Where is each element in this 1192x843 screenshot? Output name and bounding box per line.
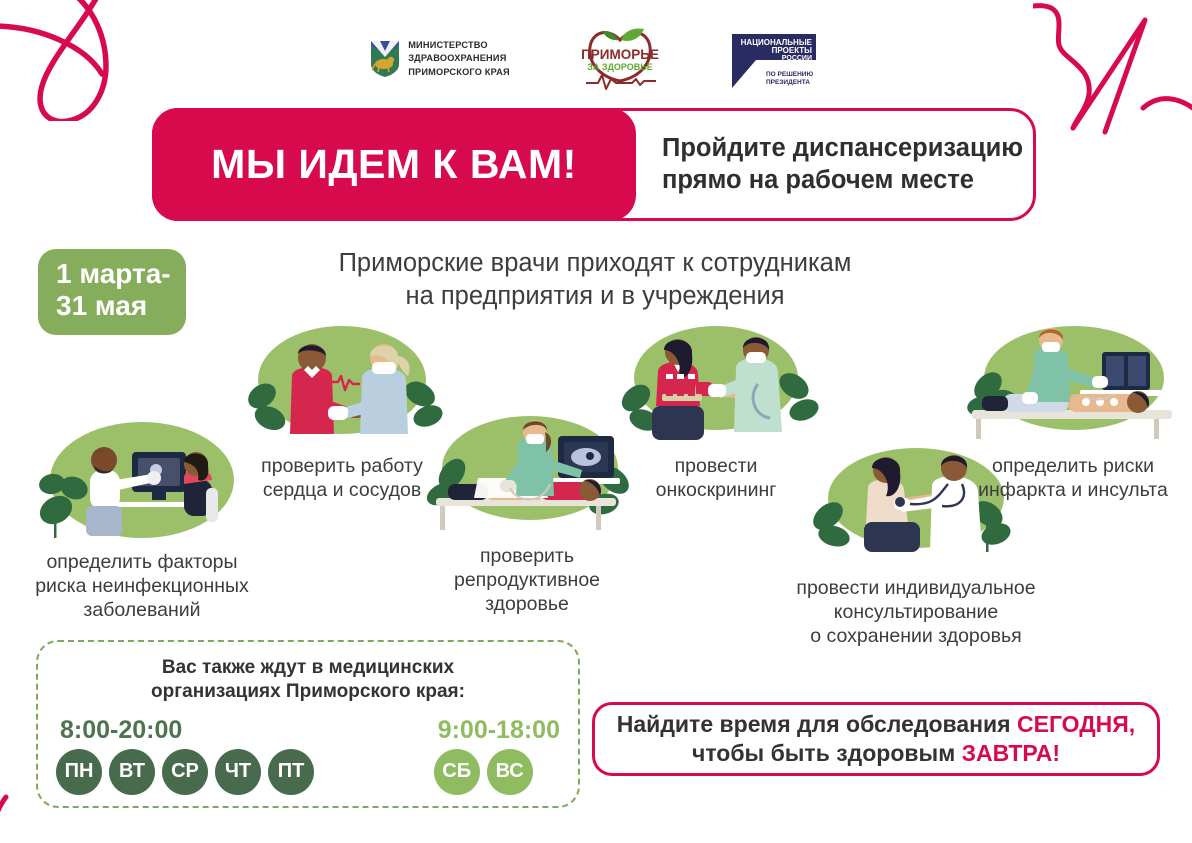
day-badge-mon: ПН [56, 749, 102, 795]
schedule-weekday-days: ПН ВТ СР ЧТ ПТ [56, 749, 314, 795]
schedule-weekend-hours: 9:00-18:00 [434, 716, 560, 745]
service-item-5: определить риски инфаркта и инсульта [958, 322, 1188, 503]
service-item-1: проверить работу сердца и сосудов [236, 322, 448, 503]
apple-heartbeat-logo-icon: ПРИМОРЬЕ ЗА ЗДОРОВЬЕ [572, 27, 668, 91]
date-badge: 1 марта- 31 мая [38, 249, 186, 335]
cta-text: Найдите время для обследования СЕГОДНЯ, … [617, 710, 1135, 768]
schedule-weekend-days: СБ ВС [434, 749, 560, 795]
logo-primorye: ПРИМОРЬЕ ЗА ЗДОРОВЬЕ [572, 27, 668, 91]
cta-box: Найдите время для обследования СЕГОДНЯ, … [592, 702, 1160, 776]
cta-highlight1: СЕГОДНЯ, [1017, 711, 1135, 737]
decorative-accent-bottom-left [0, 793, 28, 843]
cta-part2: чтобы быть здоровым [692, 740, 962, 766]
logo-np-line3: РОССИИ [782, 55, 812, 62]
day-badge-tue: ВТ [109, 749, 155, 795]
service-caption-2: проверить репродуктивное здоровье [418, 545, 636, 616]
logo-natsproekty: НАЦИОНАЛЬНЫЕ ПРОЕКТЫ РОССИИ ПО РЕШЕНИЮ П… [730, 26, 822, 92]
schedule-row: 8:00-20:00 ПН ВТ СР ЧТ ПТ 9:00-18:00 СБ … [56, 716, 560, 795]
service-caption-5: определить риски инфаркта и инсульта [958, 455, 1188, 503]
ecg-monitoring-icon [958, 322, 1188, 450]
page-subtitle: Приморские врачи приходят к сотрудникам … [230, 247, 960, 313]
hero-headline-block: МЫ ИДЕМ К ВАМ! [152, 108, 636, 221]
date-badge-text: 1 марта- 31 мая [56, 258, 172, 323]
schedule-box: Вас также ждут в медицинских организация… [36, 640, 580, 808]
logo-minzdrav: МИНИСТЕРСТВО ЗДРАВООХРАНЕНИЯ ПРИМОРСКОГО… [370, 39, 510, 78]
day-badge-sat: СБ [434, 749, 480, 795]
hero-headline: МЫ ИДЕМ К ВАМ! [211, 141, 577, 188]
logo-np-sub-line2: ПРЕЗИДЕНТА [766, 79, 810, 86]
day-badge-wed: СР [162, 749, 208, 795]
logo-np-line2: ПРОЕКТЫ [771, 46, 812, 55]
hero-subhead: Пройдите диспансеризацию прямо на рабоче… [662, 133, 1023, 196]
national-projects-logo-icon: НАЦИОНАЛЬНЫЕ ПРОЕКТЫ РОССИИ ПО РЕШЕНИЮ П… [730, 26, 822, 92]
service-item-2: проверить репродуктивное здоровье [418, 412, 636, 616]
hero-subhead-block: Пройдите диспансеризацию прямо на рабоче… [636, 111, 1033, 218]
ultrasound-exam-icon [418, 412, 636, 540]
service-caption-0: определить факторы риска неинфекционных … [28, 551, 256, 622]
logo-minzdrav-text: МИНИСТЕРСТВО ЗДРАВООХРАНЕНИЯ ПРИМОРСКОГО… [408, 39, 510, 78]
schedule-weekday-group: 8:00-20:00 ПН ВТ СР ЧТ ПТ [56, 716, 314, 795]
poster-root: МИНИСТЕРСТВО ЗДРАВООХРАНЕНИЯ ПРИМОРСКОГО… [0, 0, 1192, 843]
logo-row: МИНИСТЕРСТВО ЗДРАВООХРАНЕНИЯ ПРИМОРСКОГО… [0, 24, 1192, 94]
service-item-0: определить факторы риска неинфекционных … [28, 418, 256, 622]
service-caption-1: проверить работу сердца и сосудов [236, 455, 448, 503]
day-badge-fri: ПТ [268, 749, 314, 795]
day-badge-thu: ЧТ [215, 749, 261, 795]
logo-primorye-line2: ЗА ЗДОРОВЬЕ [587, 62, 653, 72]
nurse-pulse-check-icon [236, 322, 448, 450]
blood-draw-icon [612, 322, 820, 450]
service-caption-4: провести индивидуальное консультирование… [782, 577, 1050, 648]
logo-primorye-line1: ПРИМОРЬЕ [581, 47, 659, 62]
doctor-patient-screening-icon [28, 418, 256, 546]
cta-highlight2: ЗАВТРА! [962, 740, 1060, 766]
schedule-heading: Вас также ждут в медицинских организация… [56, 656, 560, 704]
schedule-weekend-group: 9:00-18:00 СБ ВС [434, 716, 560, 795]
schedule-weekday-hours: 8:00-20:00 [56, 716, 314, 745]
hero-banner: МЫ ИДЕМ К ВАМ! Пройдите диспансеризацию … [152, 108, 1036, 221]
logo-np-sub-line1: ПО РЕШЕНИЮ [766, 71, 813, 78]
cta-part1: Найдите время для обследования [617, 711, 1017, 737]
primorsky-krai-crest-icon [370, 40, 400, 78]
day-badge-sun: ВС [487, 749, 533, 795]
